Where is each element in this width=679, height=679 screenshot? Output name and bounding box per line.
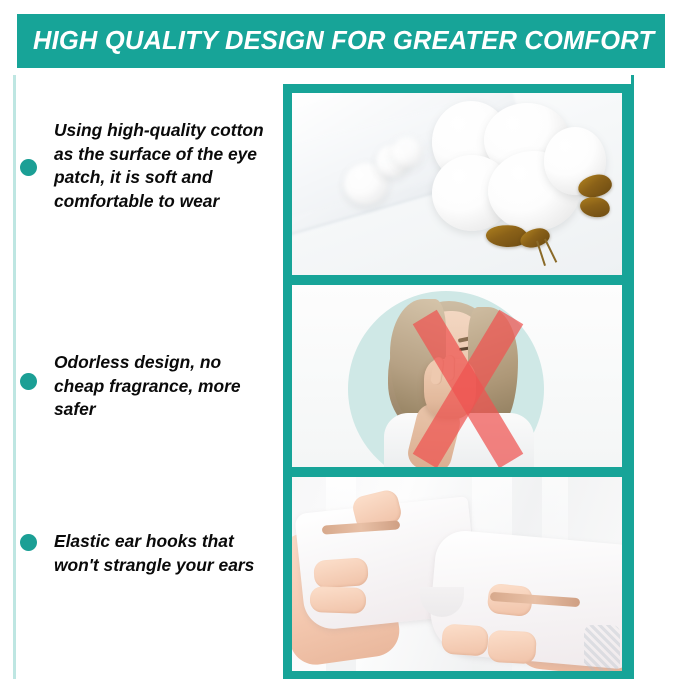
bullet-dot-icon [20, 159, 37, 176]
odor-reaction-photo [292, 285, 622, 467]
feature-item-label: Elastic ear hooks that won't strangle yo… [54, 530, 275, 577]
cotton-bolls-photo [292, 93, 622, 275]
feature-item-odorless: Odorless design, no cheap fragrance, mor… [17, 351, 275, 422]
right-edge-rule [631, 75, 634, 679]
header-banner: HIGH QUALITY DESIGN FOR GREATER COMFORT [17, 14, 665, 68]
bullet-dot-icon [20, 373, 37, 390]
finger-shape [310, 586, 367, 614]
feature-item-label: Using high-quality cotton as the surface… [54, 119, 275, 213]
finger-shape [441, 623, 489, 656]
infographic-page: HIGH QUALITY DESIGN FOR GREATER COMFORT … [0, 0, 679, 679]
feature-item-elastic-hooks: Elastic ear hooks that won't strangle yo… [17, 530, 275, 577]
finger-shape [487, 630, 537, 664]
finger-shape [313, 557, 369, 589]
lace-texture-shape [584, 625, 620, 671]
feature-item-cotton-surface: Using high-quality cotton as the surface… [17, 119, 275, 213]
eye-patch-stretch-photo [292, 477, 622, 671]
left-edge-rule [13, 75, 16, 679]
red-x-cross-out-icon [384, 305, 552, 467]
feature-item-label: Odorless design, no cheap fragrance, mor… [54, 351, 275, 422]
feature-list: Using high-quality cotton as the surface… [17, 84, 275, 673]
bullet-dot-icon [20, 534, 37, 551]
page-title: HIGH QUALITY DESIGN FOR GREATER COMFORT [17, 27, 654, 56]
photo-column [283, 84, 631, 679]
cotton-ball-small [392, 137, 422, 167]
